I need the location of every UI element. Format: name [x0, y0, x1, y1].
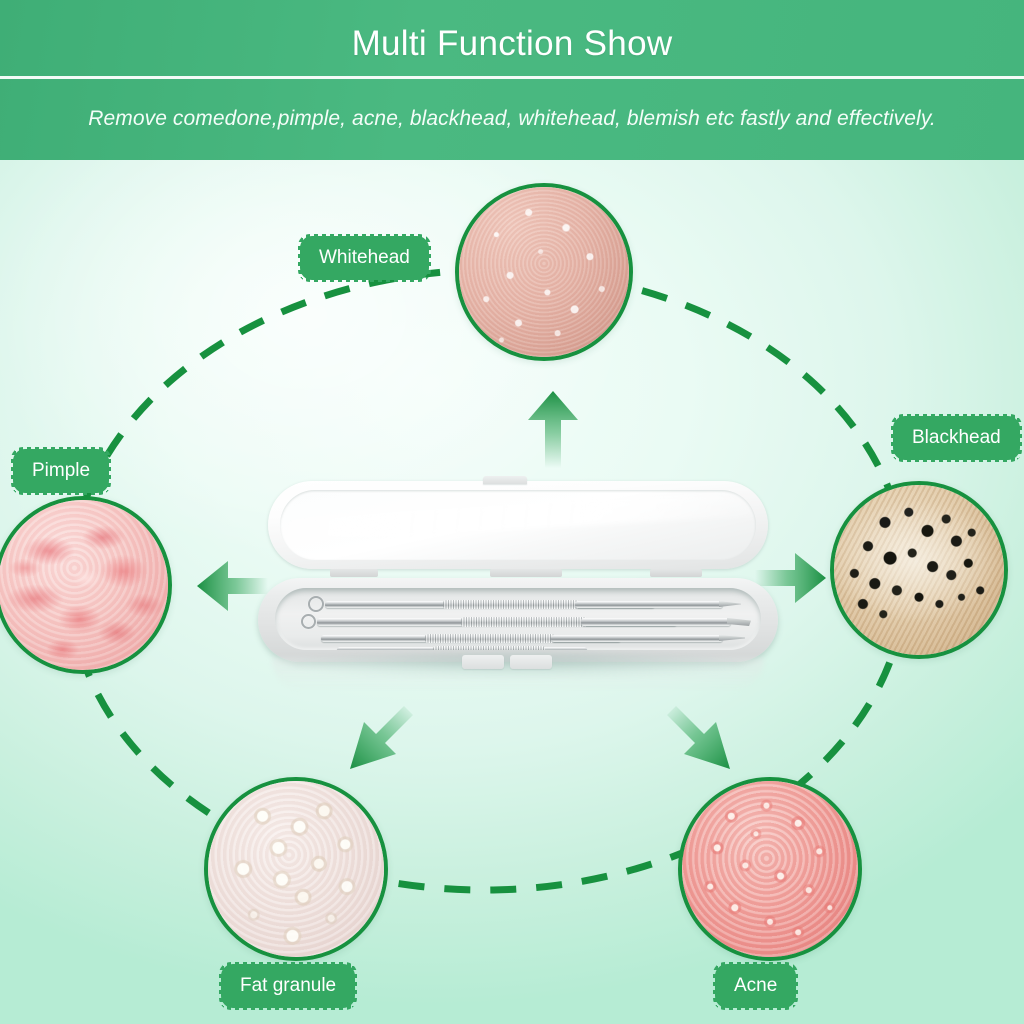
label-acne-text: Acne — [734, 975, 777, 996]
case-hinge-right — [650, 569, 702, 577]
case-lid — [268, 481, 768, 569]
label-pimple[interactable]: Pimple — [16, 452, 106, 490]
blackhead-photo-circle — [830, 481, 1008, 659]
infographic-canvas: Multi Function Show Remove comedone,pimp… — [0, 0, 1024, 1024]
page-title: Multi Function Show — [0, 22, 1024, 66]
blackhead-skin-image — [834, 485, 1004, 655]
tool-grip-2 — [461, 617, 587, 627]
case-base-tray — [258, 578, 778, 662]
label-blackhead-text: Blackhead — [912, 427, 1001, 448]
label-fat-granule[interactable]: Fat granule — [224, 967, 352, 1005]
whitehead-photo-circle — [455, 183, 633, 361]
case-front-clasp-left — [462, 655, 504, 669]
case-tray-well — [275, 588, 761, 650]
case-hinge-center — [490, 569, 562, 577]
acne-photo-circle — [678, 777, 862, 961]
tool-hook-tip-right — [727, 617, 751, 626]
label-blackhead[interactable]: Blackhead — [896, 419, 1017, 457]
fat-granule-skin-image — [208, 781, 384, 957]
tool-loop-tip-left — [308, 596, 324, 612]
fat-granule-photo-circle — [204, 777, 388, 961]
header-divider — [0, 76, 1024, 79]
tool-rod-1b — [575, 601, 723, 608]
pimple-photo-circle — [0, 496, 172, 674]
tool-lance-tip-right — [719, 601, 741, 607]
page-subtitle: Remove comedone,pimple, acne, blackhead,… — [0, 104, 1024, 134]
lid-tab — [483, 476, 527, 484]
header-banner: Multi Function Show Remove comedone,pimp… — [0, 0, 1024, 160]
label-acne[interactable]: Acne — [718, 967, 793, 1005]
case-lid-gloss — [280, 491, 756, 545]
tool-needle-tip-right — [719, 635, 745, 641]
label-whitehead[interactable]: Whitehead — [303, 239, 426, 277]
acne-skin-image — [682, 781, 858, 957]
whitehead-skin-image — [459, 187, 629, 357]
case-front-clasp-right — [510, 655, 552, 669]
tool-loop-tip-left-2 — [301, 614, 316, 629]
label-pimple-text: Pimple — [32, 460, 90, 481]
tool-rod-3b — [551, 635, 723, 642]
tool-grip-4 — [433, 646, 545, 650]
tool-grip-3 — [425, 634, 555, 643]
tool-rod-2b — [581, 618, 731, 626]
pimple-skin-image — [0, 500, 168, 670]
tool-grip-1 — [443, 600, 579, 609]
label-fat-granule-text: Fat granule — [240, 975, 336, 996]
case-lid-inner-panel — [280, 490, 756, 560]
label-whitehead-text: Whitehead — [319, 247, 410, 268]
case-hinge-left — [330, 569, 378, 577]
